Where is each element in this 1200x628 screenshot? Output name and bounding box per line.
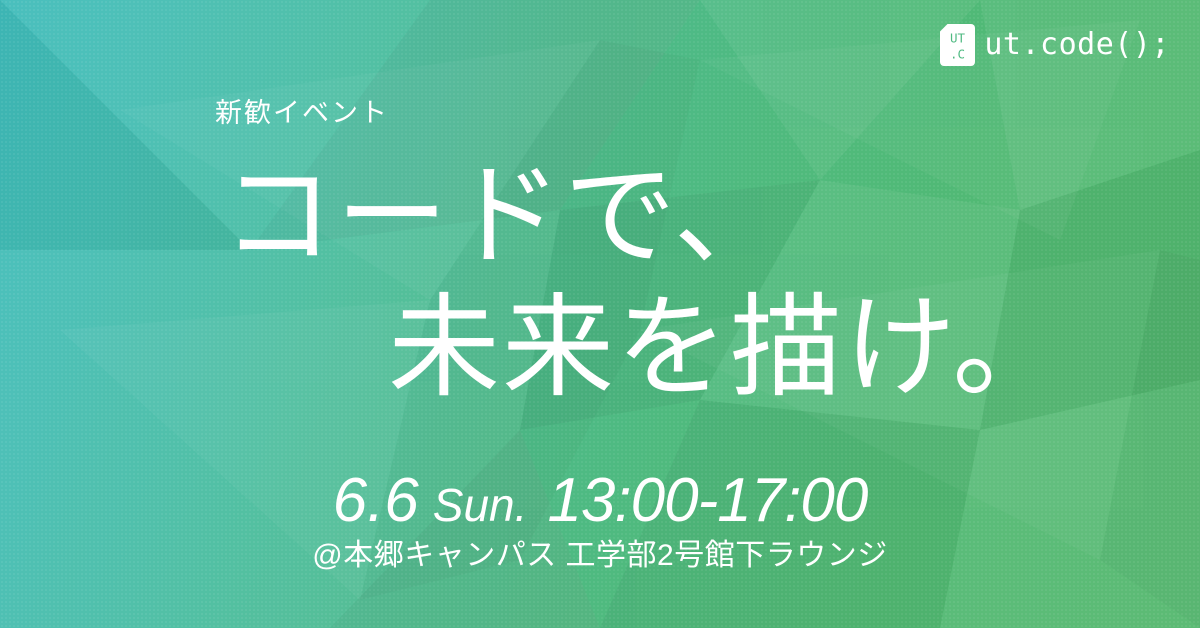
- event-poster: UT .C ut.code(); 新歓イベント コードで、 未来を描け。 6.6…: [0, 0, 1200, 628]
- event-venue: @本郷キャンパス 工学部2号館下ラウンジ: [0, 541, 1200, 571]
- poster-content: 新歓イベント コードで、 未来を描け。 6.6Sun.13:00-17:00 @…: [0, 0, 1200, 628]
- event-time: 13:00-17:00: [547, 466, 867, 535]
- headline-line-2: 未来を描け。: [0, 282, 1200, 414]
- headline-line-1: コードで、: [0, 150, 1200, 282]
- event-weekday: Sun.: [433, 479, 528, 531]
- event-datetime: 6.6Sun.13:00-17:00: [0, 470, 1200, 532]
- headline: コードで、 未来を描け。: [0, 150, 1200, 414]
- eyebrow-label: 新歓イベント: [215, 100, 389, 127]
- event-date: 6.6: [333, 466, 419, 535]
